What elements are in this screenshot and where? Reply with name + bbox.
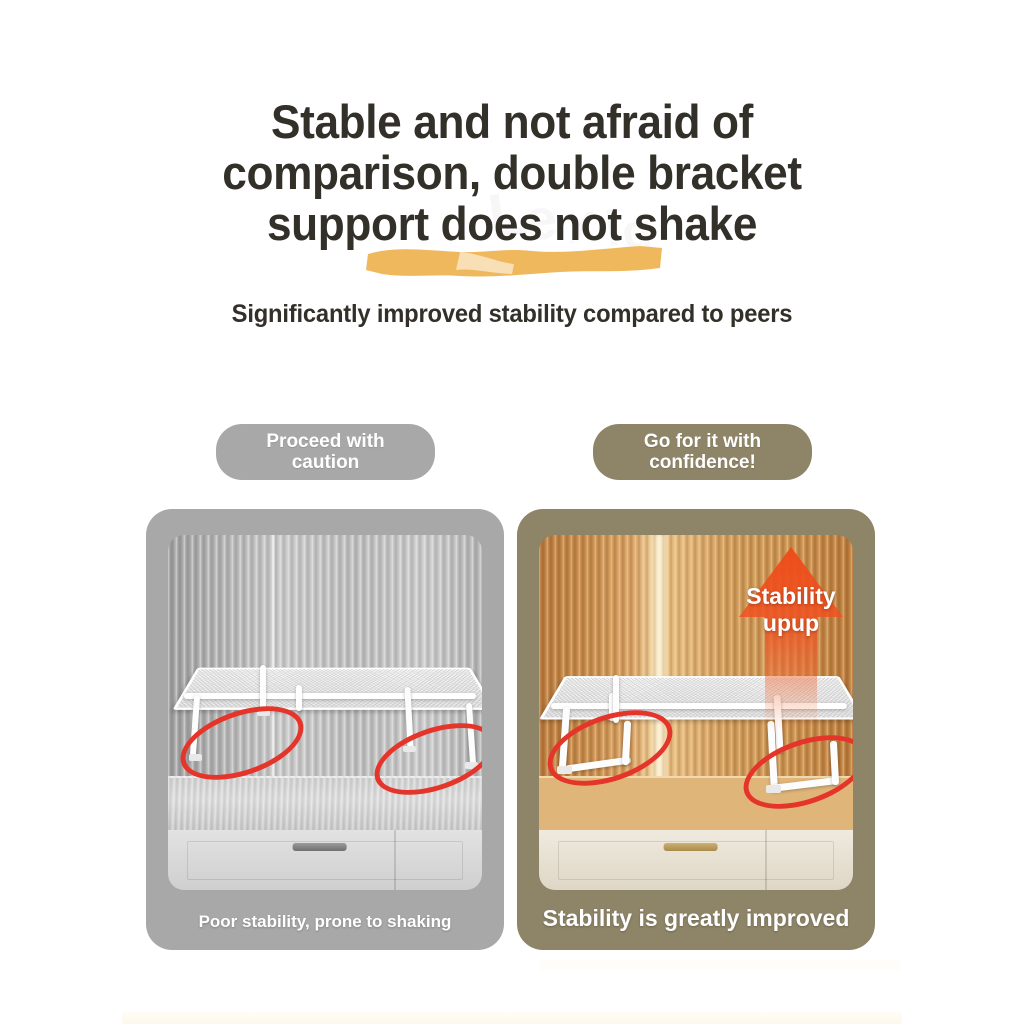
comparison-panel-left: Poor stability, prone to shaking bbox=[146, 509, 504, 950]
infographic-page: L e x i g Stable and not afraid of compa… bbox=[0, 0, 1024, 1024]
badge-left-line-2: caution bbox=[266, 452, 384, 473]
badge-left-line-1: Proceed with bbox=[266, 431, 384, 452]
scene-gray-kitchen bbox=[168, 535, 482, 890]
headline-line-2: comparison, double bracket bbox=[31, 147, 994, 198]
badge-go-for-it-with-confidence: Go for it with confidence! bbox=[593, 424, 812, 480]
rack-center-seam bbox=[296, 685, 302, 711]
drawer-handle-brass bbox=[664, 843, 718, 851]
arrow-label-line-1: Stability bbox=[725, 583, 853, 610]
badge-proceed-with-caution: Proceed with caution bbox=[216, 424, 435, 480]
rack-mesh-top bbox=[172, 668, 482, 710]
headline-line-3: support does not shake bbox=[31, 198, 994, 249]
headline-line-1: Stable and not afraid of bbox=[31, 96, 994, 147]
headline-block: Stable and not afraid of comparison, dou… bbox=[0, 96, 1024, 249]
drawer-handle-gray bbox=[293, 843, 347, 851]
rack-front-rail bbox=[184, 693, 476, 699]
caption-right: Stability is greatly improved bbox=[517, 905, 875, 932]
photo-left-poor-stability bbox=[168, 535, 482, 890]
badge-right-line-2: confidence! bbox=[644, 452, 761, 473]
cabinet-divider bbox=[394, 830, 396, 890]
arrow-label-block: Stability upup bbox=[725, 583, 853, 637]
comparison-panel-right: Stability upup bbox=[517, 509, 875, 950]
stability-up-arrow-icon bbox=[735, 543, 847, 731]
subtitle: Significantly improved stability compare… bbox=[26, 300, 999, 329]
badge-right-line-1: Go for it with bbox=[644, 431, 761, 452]
bottom-accent-strip-upper bbox=[540, 960, 900, 970]
cabinet-cream bbox=[539, 830, 853, 890]
cabinet-gray bbox=[168, 830, 482, 890]
scene-wood-kitchen: Stability upup bbox=[539, 535, 853, 890]
caption-left: Poor stability, prone to shaking bbox=[146, 912, 504, 932]
bottom-accent-strip bbox=[122, 1012, 902, 1024]
photo-right-improved-stability: Stability upup bbox=[539, 535, 853, 890]
cabinet-divider bbox=[765, 830, 767, 890]
arrow-label-line-2: upup bbox=[725, 610, 853, 637]
